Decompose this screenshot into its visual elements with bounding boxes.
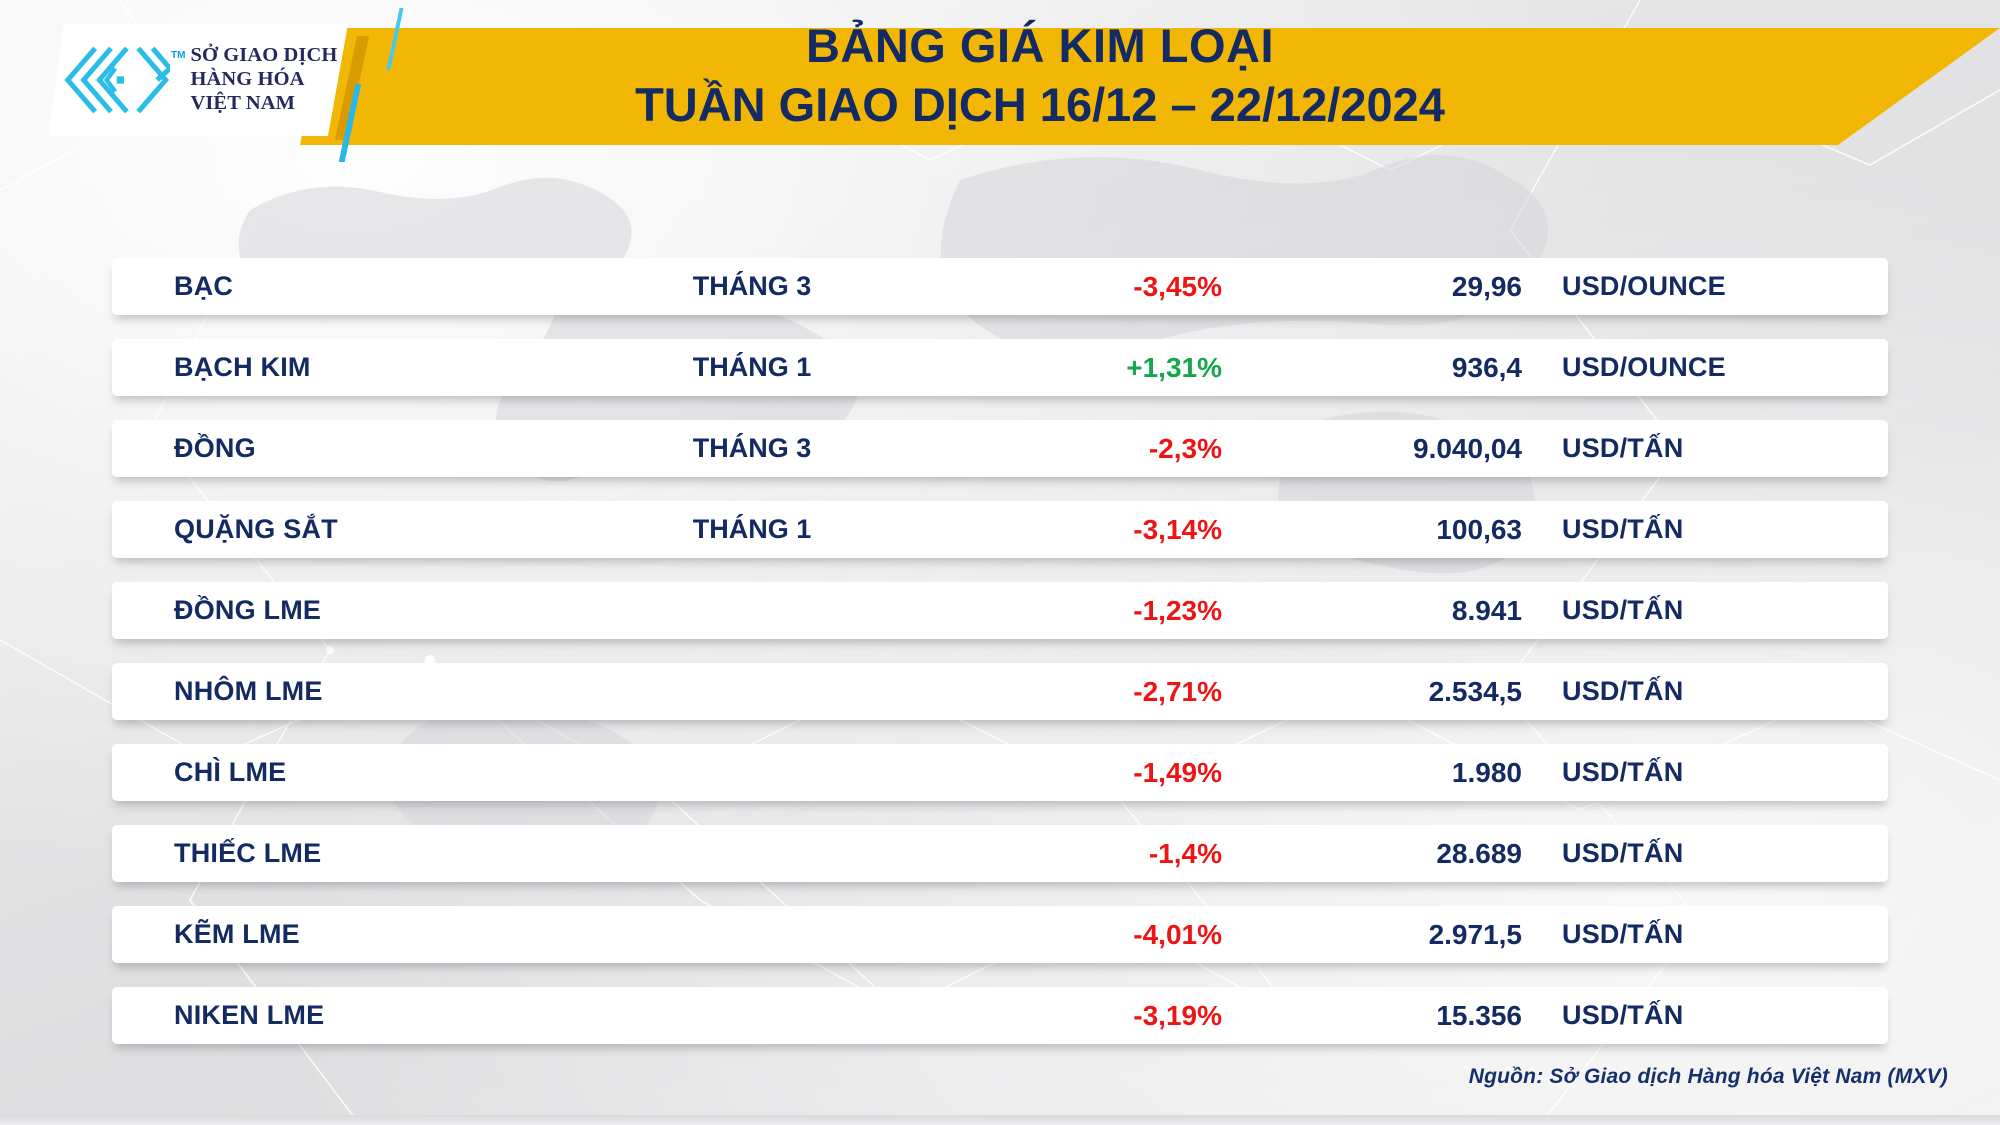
price-change-percent: -3,45%: [952, 271, 1222, 303]
price-change-percent: -4,01%: [952, 919, 1222, 951]
price-value: 29,96: [1242, 271, 1522, 303]
table-row[interactable]: THIẾC LME-1,4%28.689USD/TẤN: [112, 825, 1888, 882]
header: TM SỞ GIAO DỊCH HÀNG HÓA VIỆT NAM BẢNG G…: [0, 0, 2000, 178]
commodity-name: ĐỒNG LME: [174, 595, 321, 626]
price-value: 9.040,04: [1242, 433, 1522, 465]
price-unit: USD/TẤN: [1562, 514, 1683, 545]
commodity-name: BẠCH KIM: [174, 352, 311, 383]
infographic-canvas: TM SỞ GIAO DỊCH HÀNG HÓA VIỆT NAM BẢNG G…: [0, 0, 2000, 1125]
price-unit: USD/TẤN: [1562, 1000, 1683, 1031]
table-row[interactable]: CHÌ LME-1,49%1.980USD/TẤN: [112, 744, 1888, 801]
price-change-percent: -1,23%: [952, 595, 1222, 627]
brand-line-1: SỞ GIAO DỊCH: [190, 44, 337, 68]
commodity-name: ĐỒNG: [174, 433, 256, 464]
table-row[interactable]: ĐỒNG LME-1,23%8.941USD/TẤN: [112, 582, 1888, 639]
trademark-mark: TM: [171, 50, 185, 61]
price-unit: USD/TẤN: [1562, 757, 1683, 788]
source-note: Nguồn: Sở Giao dịch Hàng hóa Việt Nam (M…: [1469, 1065, 1948, 1089]
brand-name: SỞ GIAO DỊCH HÀNG HÓA VIỆT NAM: [190, 44, 337, 115]
price-table: BẠCTHÁNG 3-3,45%29,96USD/OUNCEBẠCH KIMTH…: [112, 258, 1888, 1068]
table-row[interactable]: QUẶNG SẮTTHÁNG 1-3,14%100,63USD/TẤN: [112, 501, 1888, 558]
title-main: BẢNG GIÁ KIM LOẠI: [300, 22, 1780, 69]
contract-month: THÁNG 1: [632, 514, 872, 545]
price-change-percent: -3,19%: [952, 1000, 1222, 1032]
price-change-percent: -2,71%: [952, 676, 1222, 708]
table-row[interactable]: BẠCTHÁNG 3-3,45%29,96USD/OUNCE: [112, 258, 1888, 315]
price-unit: USD/TẤN: [1562, 433, 1683, 464]
price-value: 100,63: [1242, 514, 1522, 546]
commodity-name: NHÔM LME: [174, 676, 323, 707]
price-unit: USD/OUNCE: [1562, 271, 1726, 302]
price-unit: USD/TẤN: [1562, 838, 1683, 869]
title-subtitle: TUẦN GIAO DỊCH 16/12 – 22/12/2024: [300, 81, 1780, 128]
price-value: 2.534,5: [1242, 676, 1522, 708]
price-unit: USD/OUNCE: [1562, 352, 1726, 383]
price-value: 2.971,5: [1242, 919, 1522, 951]
bottom-strip: [0, 1115, 2000, 1125]
commodity-name: QUẶNG SẮT: [174, 514, 338, 545]
price-change-percent: +1,31%: [952, 352, 1222, 384]
price-change-percent: -1,4%: [952, 838, 1222, 870]
contract-month: THÁNG 3: [632, 271, 872, 302]
brand-line-3: VIỆT NAM: [190, 92, 337, 116]
price-value: 1.980: [1242, 757, 1522, 789]
commodity-name: BẠC: [174, 271, 233, 302]
contract-month: THÁNG 3: [632, 433, 872, 464]
page-title: BẢNG GIÁ KIM LOẠI TUẦN GIAO DỊCH 16/12 –…: [300, 22, 1780, 128]
table-row[interactable]: KẼM LME-4,01%2.971,5USD/TẤN: [112, 906, 1888, 963]
price-value: 15.356: [1242, 1000, 1522, 1032]
commodity-name: KẼM LME: [174, 919, 300, 950]
price-unit: USD/TẤN: [1562, 919, 1683, 950]
price-unit: USD/TẤN: [1562, 676, 1683, 707]
table-row[interactable]: NHÔM LME-2,71%2.534,5USD/TẤN: [112, 663, 1888, 720]
price-change-percent: -1,49%: [952, 757, 1222, 789]
mxv-logo-icon: [62, 43, 170, 117]
table-row[interactable]: BẠCH KIMTHÁNG 1+1,31%936,4USD/OUNCE: [112, 339, 1888, 396]
price-change-percent: -3,14%: [952, 514, 1222, 546]
price-value: 28.689: [1242, 838, 1522, 870]
table-row[interactable]: ĐỒNGTHÁNG 3-2,3%9.040,04USD/TẤN: [112, 420, 1888, 477]
logo-plate: TM SỞ GIAO DỊCH HÀNG HÓA VIỆT NAM: [48, 24, 348, 136]
commodity-name: THIẾC LME: [174, 838, 321, 869]
commodity-name: CHÌ LME: [174, 757, 286, 788]
price-change-percent: -2,3%: [952, 433, 1222, 465]
contract-month: THÁNG 1: [632, 352, 872, 383]
table-row[interactable]: NIKEN LME-3,19%15.356USD/TẤN: [112, 987, 1888, 1044]
price-value: 936,4: [1242, 352, 1522, 384]
brand-line-2: HÀNG HÓA: [190, 68, 337, 92]
price-value: 8.941: [1242, 595, 1522, 627]
commodity-name: NIKEN LME: [174, 1000, 324, 1031]
price-unit: USD/TẤN: [1562, 595, 1683, 626]
